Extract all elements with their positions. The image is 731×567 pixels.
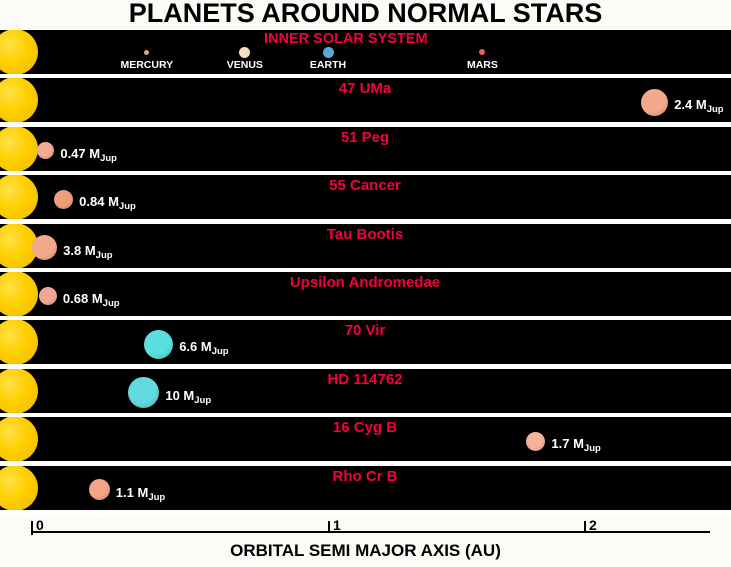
chart-row: INNER SOLAR SYSTEMMERCURYVENUSEARTHMARS (0, 30, 731, 74)
exoplanet-marker (641, 89, 668, 116)
solar-planet-label: EARTH (268, 60, 388, 71)
host-star-marker (0, 30, 38, 74)
chart-row: 0.47 MJup51 Peg (0, 127, 731, 171)
chart-row: 10 MJupHD 114762 (0, 369, 731, 413)
host-star-marker (0, 369, 38, 413)
star-name-label: 55 Cancer (165, 178, 565, 193)
axis-tick-label-1: 1 (333, 518, 341, 532)
planet-mass-label: 0.68 MJup (63, 292, 120, 307)
star-name-label: 16 Cyg B (165, 420, 565, 435)
planet-mass-label: 3.8 MJup (63, 244, 112, 259)
exoplanet-marker (89, 479, 110, 500)
star-name-label: Upsilon Andromedae (165, 275, 565, 290)
exoplanet-marker (39, 287, 57, 305)
x-axis: 0 1 2 ORBITAL SEMI MAJOR AXIS (AU) (0, 515, 731, 567)
host-star-marker (0, 78, 38, 122)
inner-solar-system-title: INNER SOLAR SYSTEM (264, 32, 428, 47)
host-star-marker (0, 320, 38, 364)
planet-mass-label: 2.4 MJup (674, 98, 723, 113)
exoplanet-marker (32, 235, 57, 260)
chart-rows: INNER SOLAR SYSTEMMERCURYVENUSEARTHMARS2… (0, 29, 731, 515)
planet-mass-label: 10 MJup (165, 389, 211, 404)
star-name-label: HD 114762 (165, 372, 565, 387)
solar-planet-label: MARS (422, 60, 542, 71)
host-star-marker (0, 417, 38, 461)
axis-tick-1 (328, 521, 330, 533)
chart-row: 2.4 MJup47 UMa (0, 78, 731, 122)
chart-row: 6.6 MJup70 Vir (0, 320, 731, 364)
planet-mass-label: 1.1 MJup (116, 486, 165, 501)
axis-title: ORBITAL SEMI MAJOR AXIS (AU) (0, 541, 731, 561)
planet-mass-label: 0.47 MJup (60, 147, 117, 162)
star-name-label: 70 Vir (165, 323, 565, 338)
axis-tick-label-0: 0 (36, 518, 44, 532)
star-name-label: Rho Cr B (165, 469, 565, 484)
chart-row: 1.7 MJup16 Cyg B (0, 417, 731, 461)
star-name-label: 51 Peg (165, 130, 565, 145)
solar-planet-marker (323, 47, 334, 58)
host-star-marker (0, 127, 38, 171)
figure-title: PLANETS AROUND NORMAL STARS (0, 0, 731, 28)
solar-planet-marker (239, 47, 250, 58)
planet-mass-label: 6.6 MJup (179, 340, 228, 355)
chart-row: 0.84 MJup55 Cancer (0, 175, 731, 219)
host-star-marker (0, 272, 38, 316)
solar-planet-marker (144, 50, 149, 55)
chart-row: 1.1 MJupRho Cr B (0, 466, 731, 510)
planet-mass-label: 1.7 MJup (551, 437, 600, 452)
axis-tick-label-2: 2 (589, 518, 597, 532)
planet-mass-label: 0.84 MJup (79, 195, 136, 210)
exoplanet-marker (128, 377, 159, 408)
figure-root: PLANETS AROUND NORMAL STARS INNER SOLAR … (0, 0, 731, 567)
host-star-marker (0, 466, 38, 510)
chart-row: 3.8 MJupTau Bootis (0, 224, 731, 268)
solar-planet-marker (479, 49, 485, 55)
axis-tick-2 (584, 521, 586, 533)
star-name-label: Tau Bootis (165, 227, 565, 242)
exoplanet-marker (37, 142, 54, 159)
chart-row: 0.68 MJupUpsilon Andromedae (0, 272, 731, 316)
exoplanet-marker (54, 190, 73, 209)
star-name-label: 47 UMa (165, 81, 565, 96)
host-star-marker (0, 175, 38, 219)
axis-line (31, 531, 710, 533)
